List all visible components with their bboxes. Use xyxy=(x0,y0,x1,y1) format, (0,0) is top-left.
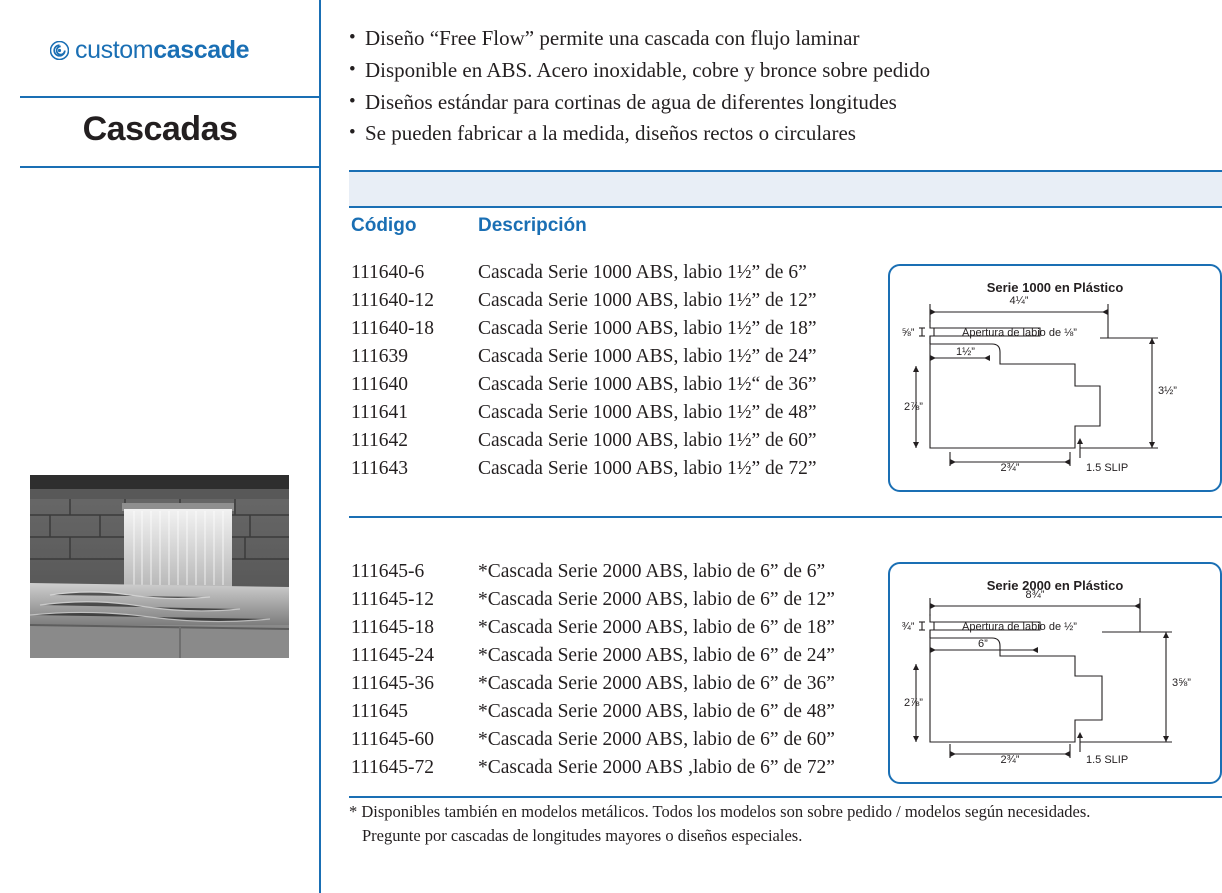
cell-description: Cascada Serie 1000 ABS, labio 1½” de 60” xyxy=(478,430,816,452)
cell-description: Cascada Serie 1000 ABS, labio 1½” de 72” xyxy=(478,458,816,480)
diagram-title: Serie 2000 en Plástico xyxy=(890,578,1220,593)
brand-logo-bold: cascade xyxy=(153,36,249,64)
brand-logo-light: custom xyxy=(75,36,153,64)
dim-left-height: 2⅞” xyxy=(904,697,923,709)
diagram-2000-drawing: 8¾” ¾” Apertura de labio de ½” 6” 2⅞” 2¾… xyxy=(890,564,1216,778)
cell-code: 111645-18 xyxy=(351,617,434,639)
cell-description: Cascada Serie 1000 ABS, labio 1½” de 48” xyxy=(478,402,816,424)
bullet-text: Diseño “Free Flow” permite una cascada c… xyxy=(365,24,1209,54)
cell-code: 111643 xyxy=(351,458,408,480)
bullet-item: • Diseños estándar para cortinas de agua… xyxy=(349,88,1209,118)
cell-description: *Cascada Serie 2000 ABS, labio de 6” de … xyxy=(478,645,835,667)
cell-code: 111639 xyxy=(351,346,408,368)
cell-code: 111640-12 xyxy=(351,290,434,312)
dim-bottom-width: 2¾” xyxy=(1001,754,1020,766)
cell-code: 111642 xyxy=(351,430,408,452)
waterfall-photo xyxy=(30,475,289,658)
cell-code: 111645-6 xyxy=(351,561,424,583)
cell-code: 111640-6 xyxy=(351,262,424,284)
page: customcascade Cascadas xyxy=(0,0,1222,893)
diagram-title: Serie 1000 en Plástico xyxy=(890,280,1220,295)
table-header-band xyxy=(349,172,1222,208)
cell-code: 111645-60 xyxy=(351,729,434,751)
left-column: customcascade Cascadas xyxy=(0,0,320,893)
cell-code: 111645-72 xyxy=(351,757,434,779)
cell-code: 111645 xyxy=(351,701,408,723)
right-column: • Diseño “Free Flow” permite una cascada… xyxy=(321,0,1222,893)
cell-description: *Cascada Serie 2000 ABS, labio de 6” de … xyxy=(478,701,835,723)
bullet-dot-icon: • xyxy=(349,24,365,52)
table-rule-top xyxy=(349,170,1222,172)
page-title: Cascadas xyxy=(0,110,320,149)
cell-description: Cascada Serie 1000 ABS, labio 1½” de 18” xyxy=(478,318,816,340)
dim-left-small: ¾” xyxy=(902,621,915,633)
dim-right-height: 3⅝” xyxy=(1172,677,1191,689)
footnote-line-1: * Disponibles también en modelos metálic… xyxy=(349,802,1090,821)
dim-bottom-width: 2¾” xyxy=(1001,462,1020,474)
brand-logo: customcascade xyxy=(50,36,249,65)
dim-right-height: 3½” xyxy=(1158,385,1177,397)
dim-lip-depth: 6” xyxy=(978,638,988,650)
footnote: * Disponibles también en modelos metálic… xyxy=(349,800,1219,848)
dim-lip-depth: 1½” xyxy=(956,346,975,358)
brand-logo-text: customcascade xyxy=(75,36,249,65)
bullet-item: • Disponible en ABS. Acero inoxidable, c… xyxy=(349,56,1209,86)
footnote-line-2: Pregunte por cascadas de longitudes mayo… xyxy=(349,824,1219,848)
cell-description: Cascada Serie 1000 ABS, labio 1½” de 12” xyxy=(478,290,816,312)
spiral-logo-icon xyxy=(50,41,69,60)
divider-top xyxy=(20,96,320,98)
diagram-serie-1000: Serie 1000 en Plástico xyxy=(888,264,1222,492)
cell-code: 111645-24 xyxy=(351,645,434,667)
cell-description: *Cascada Serie 2000 ABS, labio de 6” de … xyxy=(478,561,825,583)
bullet-text: Disponible en ABS. Acero inoxidable, cob… xyxy=(365,56,1209,86)
dim-left-height: 2⅞” xyxy=(904,401,923,413)
dim-top-width: 4¼” xyxy=(1010,295,1029,307)
dim-slip: 1.5 SLIP xyxy=(1086,754,1128,766)
bullet-text: Se pueden fabricar a la medida, diseños … xyxy=(365,119,1209,149)
feature-bullets: • Diseño “Free Flow” permite una cascada… xyxy=(349,24,1209,151)
diagram-serie-2000: Serie 2000 en Plástico xyxy=(888,562,1222,784)
dim-left-small: ⅝” xyxy=(902,327,915,339)
bullet-dot-icon: • xyxy=(349,119,365,147)
cell-description: *Cascada Serie 2000 ABS ,labio de 6” de … xyxy=(478,757,835,779)
cell-description: *Cascada Serie 2000 ABS, labio de 6” de … xyxy=(478,617,835,639)
cell-description: Cascada Serie 1000 ABS, labio 1½” de 6” xyxy=(478,262,807,284)
bullet-item: • Se pueden fabricar a la medida, diseño… xyxy=(349,119,1209,149)
cell-description: Cascada Serie 1000 ABS, labio 1½“ de 36” xyxy=(478,374,816,396)
table-rule-group-split xyxy=(349,516,1222,518)
dim-slip: 1.5 SLIP xyxy=(1086,462,1128,474)
cell-code: 111640 xyxy=(351,374,408,396)
divider-under-title xyxy=(20,166,320,168)
diagram-1000-drawing: 4¼” ⅝” Apertura de labio de ⅛” 1½” 2⅞” 2… xyxy=(890,266,1216,486)
table-rule-bottom xyxy=(349,796,1222,798)
cell-code: 111645-36 xyxy=(351,673,434,695)
bullet-text: Diseños estándar para cortinas de agua d… xyxy=(365,88,1209,118)
dim-lip-opening: Apertura de labio de ½” xyxy=(962,621,1077,633)
bullet-dot-icon: • xyxy=(349,56,365,84)
table-rule-under-header xyxy=(349,206,1222,208)
dim-lip-opening: Apertura de labio de ⅛” xyxy=(962,327,1077,339)
cell-code: 111645-12 xyxy=(351,589,434,611)
column-header-code: Código xyxy=(351,215,416,237)
cell-code: 111641 xyxy=(351,402,408,424)
cell-code: 111640-18 xyxy=(351,318,434,340)
column-header-description: Descripción xyxy=(478,215,587,237)
bullet-dot-icon: • xyxy=(349,88,365,116)
cell-description: *Cascada Serie 2000 ABS, labio de 6” de … xyxy=(478,673,835,695)
cell-description: Cascada Serie 1000 ABS, labio 1½” de 24” xyxy=(478,346,816,368)
bullet-item: • Diseño “Free Flow” permite una cascada… xyxy=(349,24,1209,54)
cell-description: *Cascada Serie 2000 ABS, labio de 6” de … xyxy=(478,729,835,751)
cell-description: *Cascada Serie 2000 ABS, labio de 6” de … xyxy=(478,589,835,611)
